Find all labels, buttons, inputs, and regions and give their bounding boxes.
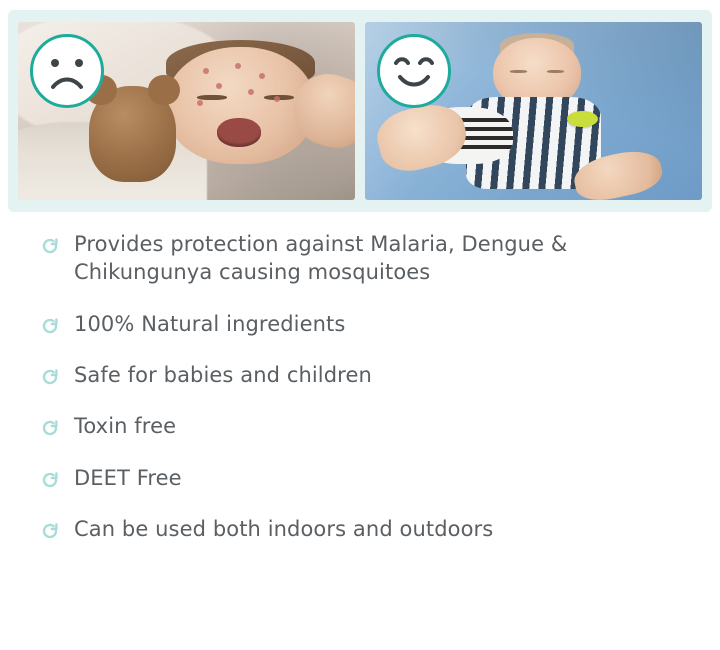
photo-sleeping-baby (365, 22, 702, 200)
photo-crying-baby (18, 22, 355, 200)
feature-text: Toxin free (74, 412, 176, 440)
circular-arrow-icon (40, 418, 60, 438)
circular-arrow-icon (40, 521, 60, 541)
happy-face-icon (380, 37, 448, 105)
baby-eye-right-2 (547, 70, 564, 73)
baby-mouth-crying (217, 118, 261, 146)
list-item: 100% Natural ingredients (40, 310, 702, 338)
baby-eye-right-1 (510, 70, 527, 73)
list-item: Safe for babies and children (40, 361, 702, 389)
sad-face-icon (33, 37, 101, 105)
teddy-bear (89, 86, 177, 182)
circular-arrow-icon (40, 367, 60, 387)
feature-text: 100% Natural ingredients (74, 310, 345, 338)
circular-arrow-icon (40, 470, 60, 490)
feature-text: Provides protection against Malaria, Den… (74, 230, 702, 287)
feature-text: DEET Free (74, 464, 182, 492)
mosquito-repellent-patch (567, 111, 597, 127)
feature-list: Provides protection against Malaria, Den… (0, 230, 720, 543)
feature-text: Can be used both indoors and outdoors (74, 515, 493, 543)
list-item: Provides protection against Malaria, Den… (40, 230, 702, 287)
sad-face-badge (30, 34, 104, 108)
happy-face-badge (377, 34, 451, 108)
product-benefits-page: Provides protection against Malaria, Den… (0, 10, 720, 650)
circular-arrow-icon (40, 316, 60, 336)
list-item: Toxin free (40, 412, 702, 440)
mosquito-bite-spots (193, 61, 287, 114)
hero-image-strip (8, 10, 712, 212)
list-item: DEET Free (40, 464, 702, 492)
feature-text: Safe for babies and children (74, 361, 372, 389)
circular-arrow-icon (40, 236, 60, 256)
list-item: Can be used both indoors and outdoors (40, 515, 702, 543)
